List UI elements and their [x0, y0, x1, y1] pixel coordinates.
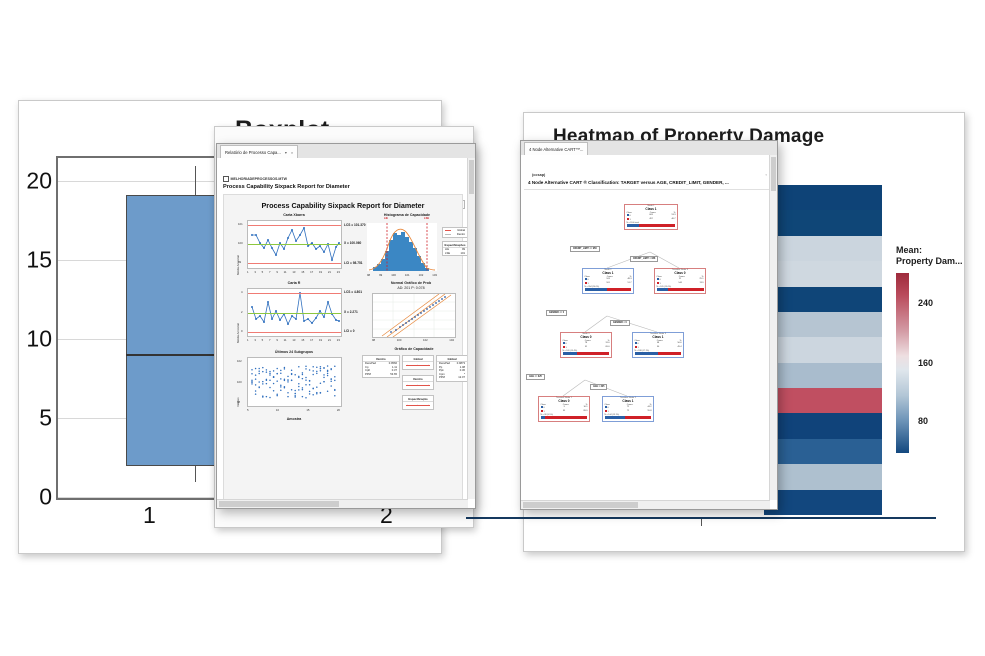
- sixpack-body: MELHORIADEPROCESSOS.MTW Process Capabili…: [217, 158, 475, 508]
- axis-tick: 17: [310, 270, 313, 274]
- axis-tick: 9: [276, 270, 278, 274]
- xbar-subtitle: Carta Xbarra: [244, 213, 344, 217]
- cart-node-bar: [635, 352, 682, 355]
- histogram-lsl-label: LIE: [384, 217, 388, 220]
- cart-split-label: GENDER <= 0: [546, 310, 567, 316]
- cart-node-table: ClassCases%07831.019169.0: [561, 339, 611, 350]
- legend-colorbar: [896, 273, 909, 453]
- tab-relatorio-processo[interactable]: Relatório de Processo Capa... ▾ ×: [220, 145, 298, 158]
- tab-label: 4 Node Alternative CART™...: [529, 147, 583, 152]
- histogram-xticks: 9899100101102103: [367, 273, 437, 277]
- cart-node-bar: [585, 288, 632, 291]
- panel-expand-icon[interactable]: ▫: [766, 173, 767, 177]
- global-k4: PPM: [439, 376, 445, 380]
- axis-tick: 20: [337, 408, 340, 412]
- axis-tick: 15: [306, 408, 309, 412]
- histogram-legend: Global Dentro: [442, 227, 468, 238]
- cart-subheader: (ccsap): [532, 173, 545, 177]
- heatmap-cell: [764, 312, 882, 337]
- heatmap-cell: [764, 210, 882, 235]
- heatmap-cell: [764, 287, 882, 312]
- heatmap-cell: [764, 464, 882, 489]
- y-tick-0: 0: [39, 484, 52, 511]
- rchart-center-line: [248, 313, 341, 314]
- cart-split-label: AGE > 325: [590, 384, 607, 390]
- tab-label: Relatório de Processo Capa...: [225, 150, 281, 155]
- rchart-lcl-line: [248, 332, 341, 333]
- lastsub-plot: [247, 357, 342, 407]
- legend-tick-240: 240: [918, 298, 933, 308]
- axis-tick: 15: [301, 338, 304, 342]
- xbar-lcl-line: [248, 263, 341, 264]
- y-tick-15: 15: [26, 246, 52, 273]
- axis-tick: 11: [284, 270, 287, 274]
- rchart-ytick-mid: 2: [241, 310, 243, 314]
- axis-tick: 23: [337, 338, 340, 342]
- sixpack-report-header: Process Capability Sixpack Report for Di…: [223, 184, 350, 190]
- heatmap-cell: [764, 490, 882, 515]
- x-tick-1: 1: [143, 502, 156, 529]
- histogram-bars: [367, 223, 437, 271]
- axis-tick: 5: [247, 408, 249, 412]
- axis-tick: 15: [301, 270, 304, 274]
- xbar-ytick-mid: 100: [238, 241, 243, 245]
- normplot-plot: [372, 293, 456, 338]
- rchart-ylabel: Média Amostral: [236, 323, 240, 343]
- xbar-lcl-label: LCI = 98.751: [344, 261, 363, 265]
- heatmap-x-tick: [701, 519, 702, 526]
- rchart-subtitle: Carta R: [244, 281, 344, 285]
- file-name-row: MELHORIADEPROCESSOS.MTW: [223, 176, 287, 182]
- axis-tick: 104: [449, 338, 454, 342]
- axis-tick: 103: [432, 273, 437, 277]
- cart-tree-canvas: Node 1Class 1ClassCases%060353.3149746.7…: [524, 189, 769, 499]
- lastsub-ytick-102: 102: [237, 359, 242, 363]
- axis-tick: 19: [319, 338, 322, 342]
- axis-tick: 102: [423, 338, 428, 342]
- xbar-ytick-bot: 99: [238, 260, 241, 264]
- axis-tick: 5: [262, 270, 264, 274]
- cart-node[interactable]: Terminal Node 3Class 1ClassCases%09850.6…: [632, 332, 684, 358]
- lastsub-subtitle: Últimos 24 Subgrupos: [244, 350, 344, 354]
- cart-split-label: GENDER > 0: [610, 320, 630, 326]
- global-v4: 12.07: [458, 376, 465, 380]
- axis-tick: 3: [254, 270, 256, 274]
- dentro-k3: PPM: [365, 373, 371, 377]
- cart-split-label: CREDIT_LIMIT <= 958: [570, 246, 600, 252]
- axis-tick: 1: [247, 338, 249, 342]
- close-icon[interactable]: ×: [291, 150, 293, 155]
- sixpack-chart-title: Process Capability Sixpack Report for Di…: [224, 201, 462, 210]
- cart-node[interactable]: Terminal Node 4Class 0ClassCases%02125.1…: [654, 268, 706, 294]
- histogram-usl-label: LSE: [424, 217, 429, 220]
- cart-node-table: ClassCases%010348.3116151.7: [583, 275, 633, 286]
- sixpack-window[interactable]: Relatório de Processo Capa... ▾ × MELHOR…: [216, 143, 476, 509]
- cart-tabstrip: 4 Node Alternative CART™...: [521, 141, 777, 156]
- normplot-series: [373, 294, 455, 337]
- capability-bar-dentro: Dentro +++: [402, 375, 434, 390]
- normplot-subtitle: Normal Gráfico de Prob: [366, 281, 456, 285]
- tab-cart-classification[interactable]: 4 Node Alternative CART™...: [524, 142, 588, 155]
- rchart-ucl-label: LCS = 4.801: [344, 290, 362, 294]
- cart-split-label: AGE <= 325: [526, 374, 545, 380]
- rchart-plot: [247, 288, 342, 337]
- rchart-cl-label: X = 2.271: [344, 310, 358, 314]
- axis-tick: 101: [405, 273, 410, 277]
- cart-split-label: CREDIT_LIMIT > 958: [630, 256, 658, 262]
- histogram-spec-box: Especificações LIE 99 LSE 101: [442, 241, 468, 256]
- legend-tick-80: 80: [918, 416, 928, 426]
- cart-node-bar: [657, 288, 704, 291]
- cart-window[interactable]: 4 Node Alternative CART™... (ccsap) 4 No…: [520, 140, 778, 510]
- axis-tick: 99: [379, 273, 382, 277]
- y-tick-5: 5: [39, 404, 52, 431]
- sixpack-vertical-scrollbar[interactable]: [467, 158, 475, 499]
- heatmap-cell: [764, 439, 882, 464]
- whisker-lower: [195, 466, 196, 482]
- histogram-plot: [367, 223, 437, 271]
- lastsub-scatter: [248, 358, 341, 406]
- cart-node-bar: [563, 352, 610, 355]
- xbar-xticks: 1357911131517192123: [247, 270, 340, 274]
- cart-node[interactable]: Node 1Class 1ClassCases%060353.3149746.7…: [624, 204, 678, 230]
- axis-tick: 7: [269, 270, 271, 274]
- lastsub-ytick-100: 100: [237, 380, 242, 384]
- axis-tick: 98: [372, 338, 375, 342]
- cart-horizontal-scrollbar[interactable]: [521, 500, 770, 509]
- whisker-upper: [195, 166, 196, 198]
- rchart-ytick-bot: 0: [241, 329, 243, 333]
- cart-header: 4 Node Alternative CART ® Classification…: [528, 180, 729, 185]
- heatmap-cell: [764, 261, 882, 286]
- axis-tick: 10: [276, 408, 279, 412]
- capability-bar-global: Global +++: [402, 355, 434, 370]
- legend-dentro: Dentro: [457, 233, 465, 237]
- axis-tick: 11: [284, 338, 287, 342]
- cart-node-table: ClassCases%07244.217255.8: [603, 403, 653, 414]
- spec-lse-key: LSE: [445, 252, 450, 256]
- worksheet-icon: [223, 176, 229, 182]
- cart-node-bar: [541, 416, 588, 419]
- axis-tick: 5: [262, 338, 264, 342]
- legend-title-line2: Property Dam...: [896, 256, 981, 267]
- cart-node[interactable]: Node 3Class 0ClassCases%07831.019169.0N …: [560, 332, 612, 358]
- axis-tick: 7: [269, 338, 271, 342]
- capability-dentro-box: Dentro DesvPad0.9566 Cp1.11 CpK0.37 PPM5…: [362, 355, 400, 378]
- heatmap-grid: [764, 185, 882, 515]
- heatmap-cell: [764, 185, 882, 210]
- cart-node-bar: [627, 224, 676, 227]
- heatmap-cell: [764, 337, 882, 362]
- capability-bar-spec: Especificação +++: [402, 395, 434, 410]
- axis-tick: 102: [419, 273, 424, 277]
- axis-tick: 19: [319, 270, 322, 274]
- xbar-plot: [247, 220, 342, 269]
- axis-tick: 1: [247, 270, 249, 274]
- normplot-xticks: 98100102104: [372, 338, 454, 342]
- axis-tick: 100: [397, 338, 402, 342]
- rchart-ucl-line: [248, 293, 341, 294]
- rchart-lcl-label: LCI = 0: [344, 329, 355, 333]
- histogram-subtitle: Histograma de Capacidade: [362, 213, 452, 217]
- file-name-label: MELHORIADEPROCESSOS.MTW: [231, 177, 288, 181]
- heatmap-cell: [764, 388, 882, 413]
- capability-subtitle: Gráfico de Capacidade: [374, 347, 454, 351]
- rchart-xticks: 1357911131517192123: [247, 338, 340, 342]
- heatmap-cell: [764, 413, 882, 438]
- axis-tick: 13: [292, 338, 295, 342]
- axis-tick: 9: [276, 338, 278, 342]
- cart-node[interactable]: Node 2Class 1ClassCases%010348.3116151.7…: [582, 268, 634, 294]
- axis-tick: 23: [337, 270, 340, 274]
- sixpack-tabstrip: Relatório de Processo Capa... ▾ ×: [217, 144, 475, 159]
- lastsub-xlabel: Amostra: [264, 417, 324, 421]
- rchart-ytick-top: 4: [241, 290, 243, 294]
- axis-tick: 21: [328, 270, 331, 274]
- xbar-ucl-line: [248, 225, 341, 226]
- axis-tick: 100: [391, 273, 396, 277]
- cart-node[interactable]: Terminal Node 2Class 1ClassCases%07244.2…: [602, 396, 654, 422]
- sixpack-chart-canvas: Process Capability Sixpack Report for Di…: [223, 194, 463, 508]
- axis-tick: 3: [254, 338, 256, 342]
- xbar-cl-label: X = 100.060: [344, 241, 361, 245]
- legend-tick-160: 160: [918, 358, 933, 368]
- xbar-ucl-label: LCS = 101.370: [344, 223, 366, 227]
- heatmap-cell: [764, 363, 882, 388]
- spec-lse-val: 101: [461, 252, 465, 256]
- lastsub-xticks: 5101520: [247, 408, 340, 412]
- cart-node[interactable]: Terminal Node 1Class 0ClassCases%0310.11…: [538, 396, 590, 422]
- xbar-ytick-top: 101: [238, 222, 243, 226]
- cart-node-table: ClassCases%09850.619049.4: [633, 339, 683, 350]
- heatmap-legend: Mean: Property Dam... 240 160 80: [896, 245, 981, 267]
- xbar-center-line: [248, 244, 341, 245]
- sixpack-horizontal-scrollbar[interactable]: [217, 499, 468, 508]
- lastsub-ytick-98: 98: [237, 400, 240, 404]
- cart-node-bar: [605, 416, 652, 419]
- axis-tick: 21: [328, 338, 331, 342]
- normplot-stat: AD: 201 P: 0.078: [366, 286, 456, 290]
- cart-vertical-scrollbar[interactable]: [769, 155, 777, 500]
- legend-title-line1: Mean:: [896, 245, 981, 256]
- capability-global-box: Global DesvPad0.9873 Pp1.08 Ppk0.36 Cpm*…: [436, 355, 468, 382]
- cart-node-table: ClassCases%02125.1114474.9: [655, 275, 705, 286]
- axis-tick: 98: [367, 273, 370, 277]
- dentro-v3: 53.65: [390, 373, 397, 377]
- cart-node-table: ClassCases%0310.113589.9: [539, 403, 589, 414]
- y-tick-10: 10: [26, 325, 52, 352]
- heatmap-cell: [764, 236, 882, 261]
- axis-tick: 13: [292, 270, 295, 274]
- xbar-ylabel: Média Amostral: [236, 255, 240, 275]
- axis-tick: 17: [310, 338, 313, 342]
- cart-body: (ccsap) 4 Node Alternative CART ® Classi…: [521, 155, 777, 509]
- y-tick-20: 20: [26, 167, 52, 194]
- chevron-down-icon[interactable]: ▾: [285, 150, 287, 155]
- cart-node-table: ClassCases%060353.3149746.7: [625, 211, 677, 222]
